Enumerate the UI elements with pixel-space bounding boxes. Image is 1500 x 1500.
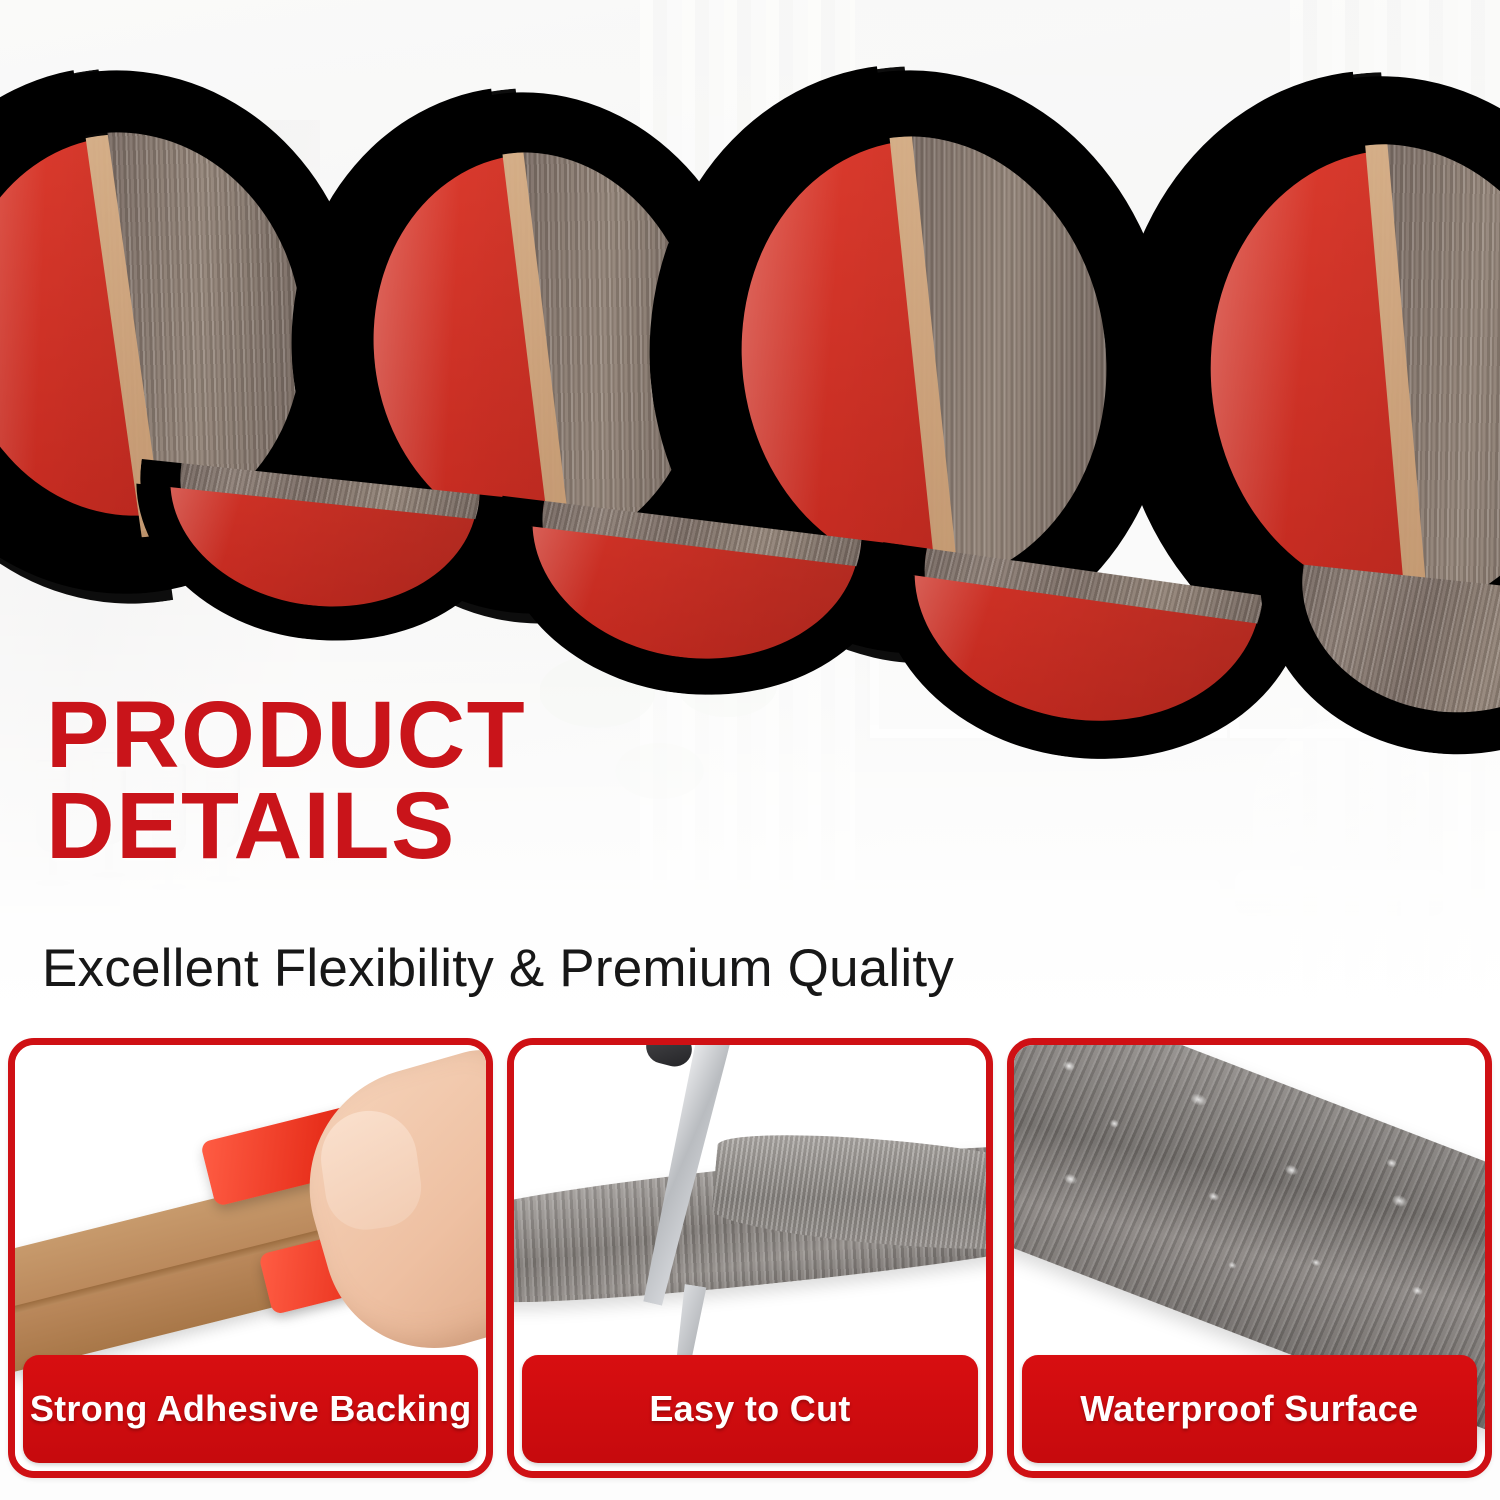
feature-panel-strong-adhesive-backing[interactable]: Strong Adhesive Backing bbox=[8, 1038, 493, 1478]
title-line-2: DETAILS bbox=[46, 781, 946, 872]
caption-bar-2: Easy to Cut bbox=[522, 1355, 977, 1463]
caption-label-1: Strong Adhesive Backing bbox=[30, 1388, 472, 1430]
chair bbox=[1235, 720, 1450, 1060]
caption-label-2: Easy to Cut bbox=[649, 1388, 850, 1430]
hand bbox=[281, 1045, 486, 1374]
chair-seat bbox=[1235, 870, 1445, 916]
product-detail-image: PRODUCT DETAILS Excellent Flexibility & … bbox=[0, 0, 1500, 1500]
title-line-1: PRODUCT bbox=[46, 690, 946, 781]
page-title: PRODUCT DETAILS bbox=[46, 690, 946, 872]
hero-coiled-banding bbox=[0, 0, 1500, 720]
caption-label-3: Waterproof Surface bbox=[1080, 1388, 1418, 1430]
caption-bar-1: Strong Adhesive Backing bbox=[23, 1355, 478, 1463]
scissors-pivot bbox=[643, 1045, 696, 1070]
thumbnail bbox=[315, 1105, 426, 1235]
feature-panel-row: Strong Adhesive Backing Easy to Cut bbox=[0, 1038, 1500, 1478]
caption-bar-3: Waterproof Surface bbox=[1022, 1355, 1477, 1463]
feature-panel-easy-to-cut[interactable]: Easy to Cut bbox=[507, 1038, 992, 1478]
page-subtitle: Excellent Flexibility & Premium Quality bbox=[42, 938, 954, 999]
feature-panel-waterproof-surface[interactable]: Waterproof Surface bbox=[1007, 1038, 1492, 1478]
